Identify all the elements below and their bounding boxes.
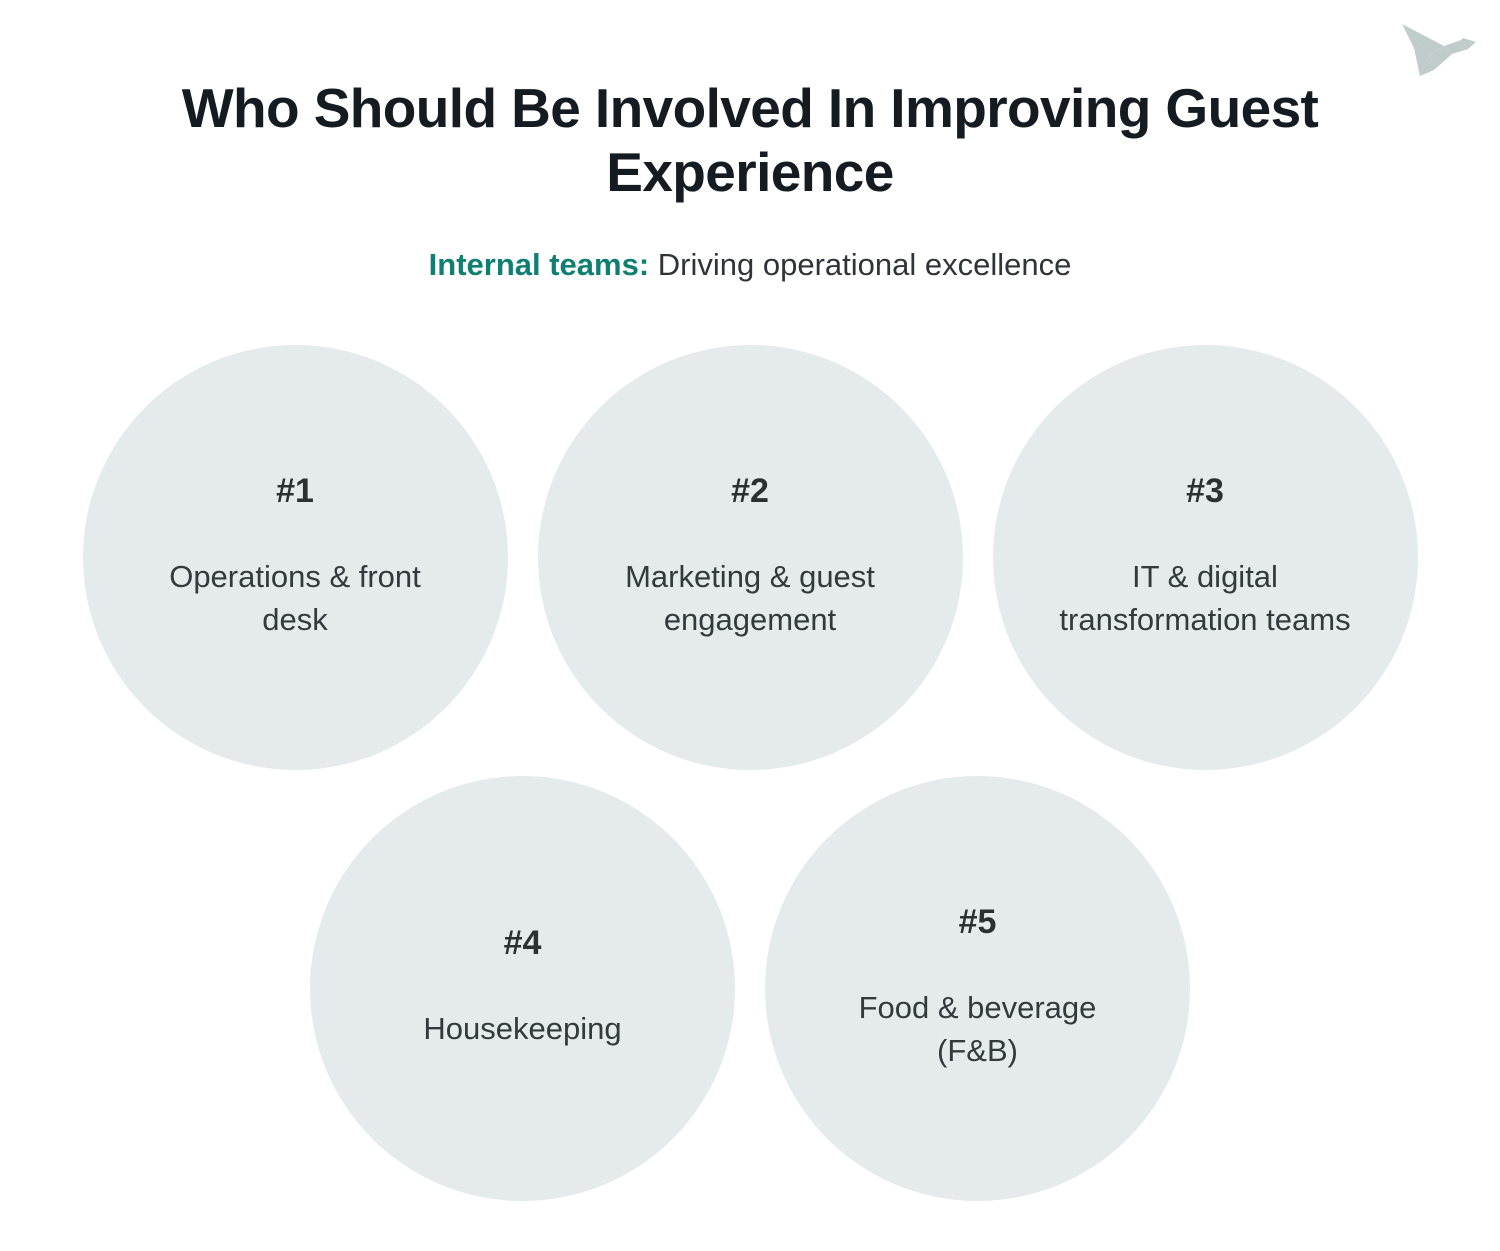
circle-rank-3: #3 — [1186, 474, 1224, 508]
header: Who Should Be Involved In Improving Gues… — [0, 0, 1500, 285]
subtitle-lead: Internal teams: — [429, 247, 650, 282]
circle-item-1[interactable]: #1 Operations & front desk — [83, 345, 508, 770]
circle-row-top: #1 Operations & front desk #2 Marketing … — [0, 345, 1500, 770]
circle-rank-1: #1 — [276, 474, 314, 508]
page-subtitle: Internal teams: Driving operational exce… — [0, 205, 1500, 285]
circle-item-2[interactable]: #2 Marketing & guest engagement — [538, 345, 963, 770]
circle-label-4: Housekeeping — [423, 1008, 621, 1051]
circle-group: #1 Operations & front desk #2 Marketing … — [0, 345, 1500, 1201]
circle-item-5[interactable]: #5 Food & beverage (F&B) — [765, 776, 1190, 1201]
circle-rank-5: #5 — [959, 905, 997, 939]
subtitle-rest: Driving operational excellence — [649, 247, 1071, 282]
circle-item-4[interactable]: #4 Housekeeping — [310, 776, 735, 1201]
circle-row-bottom: #4 Housekeeping #5 Food & beverage (F&B) — [0, 776, 1500, 1201]
circle-item-3[interactable]: #3 IT & digital transformation teams — [993, 345, 1418, 770]
circle-label-2: Marketing & guest engagement — [594, 556, 907, 642]
page-title: Who Should Be Involved In Improving Gues… — [170, 0, 1330, 205]
circle-label-3: IT & digital transformation teams — [1049, 556, 1362, 642]
circle-label-5: Food & beverage (F&B) — [821, 987, 1134, 1073]
circle-label-1: Operations & front desk — [139, 556, 452, 642]
circle-rank-4: #4 — [504, 926, 542, 960]
infographic-page: Who Should Be Involved In Improving Gues… — [0, 0, 1500, 1251]
circle-rank-2: #2 — [731, 474, 769, 508]
